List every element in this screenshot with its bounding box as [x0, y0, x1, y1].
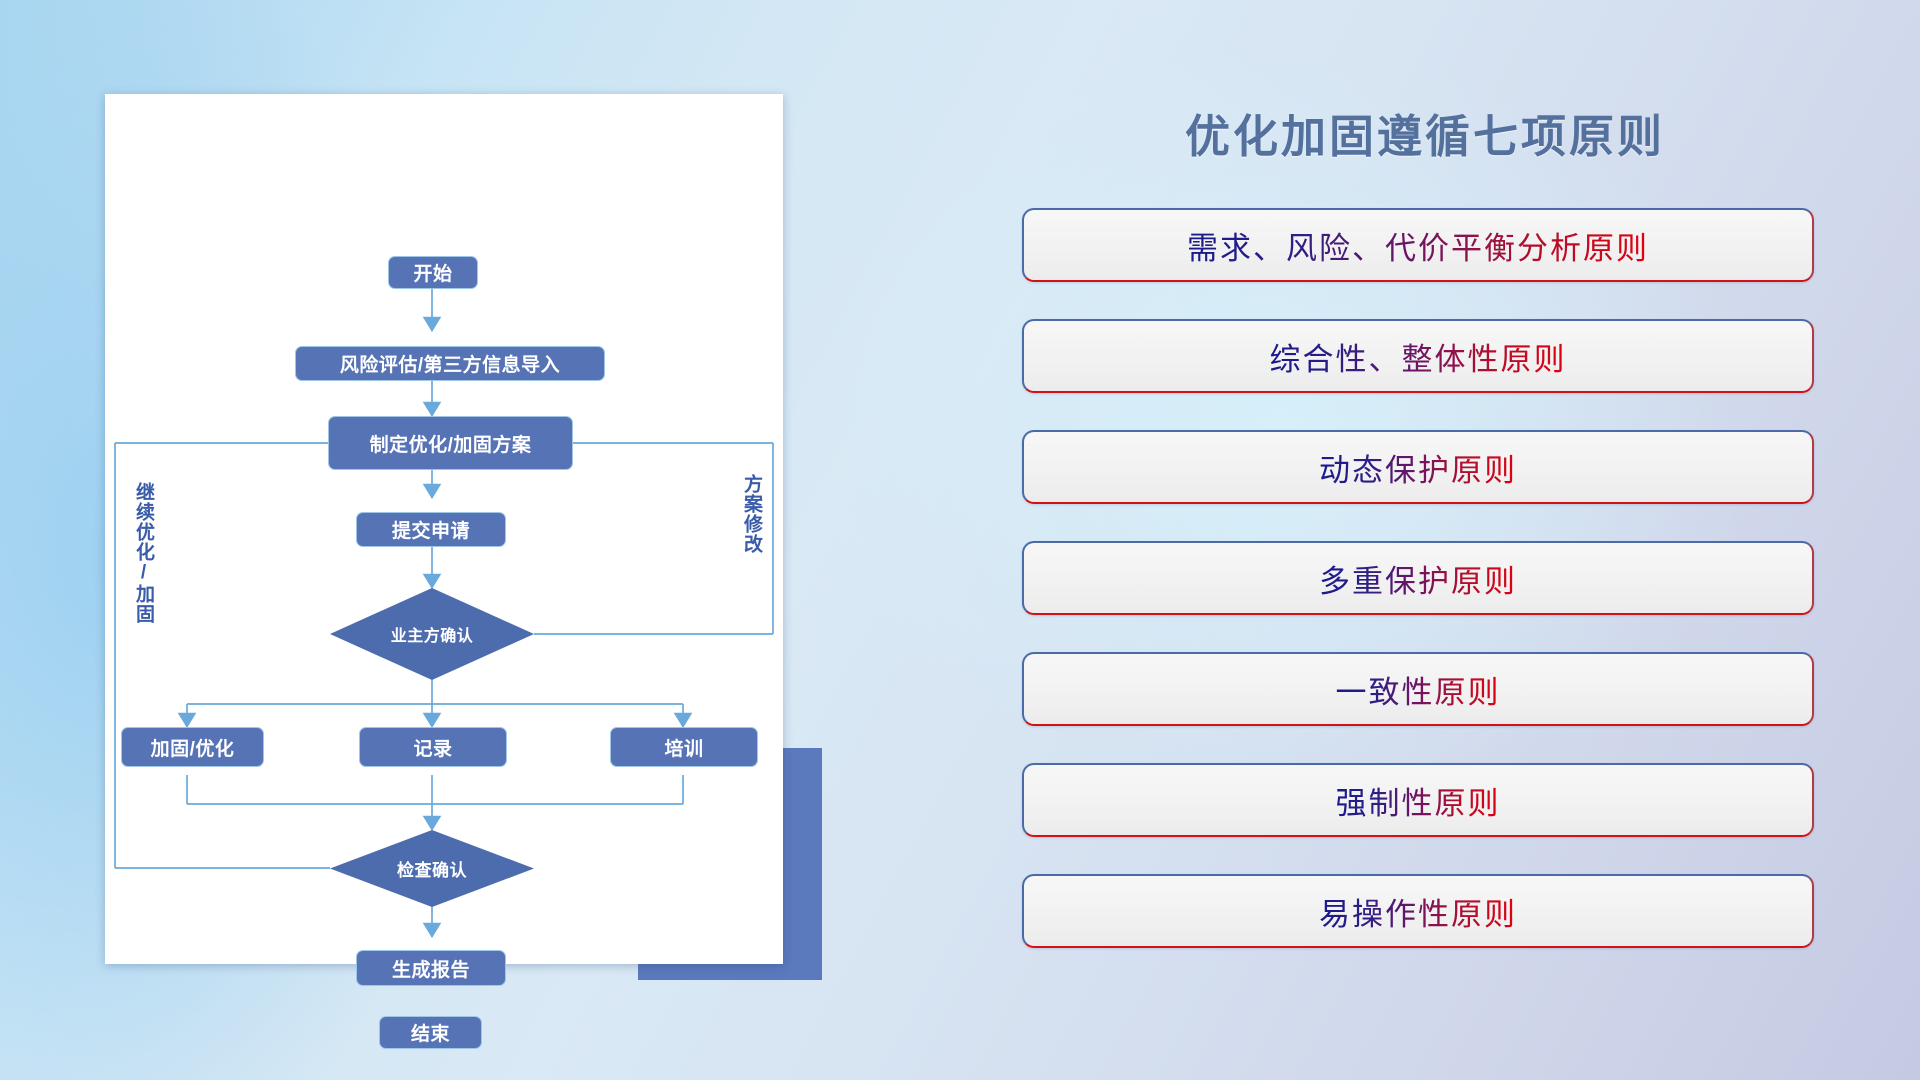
principle-label: 多重保护原则 [1319, 556, 1517, 601]
flow-node-submit-application[interactable]: 提交申请 [356, 512, 506, 547]
flow-node-label: 开始 [413, 259, 452, 286]
edge-label-continue-optimize: 继续优化/加固 [134, 482, 153, 624]
flowchart-card: 开始 风险评估/第三方信息导入 制定优化/加固方案 提交申请 业主方确认 加固/… [105, 94, 783, 964]
flow-node-label: 提交申请 [392, 516, 470, 543]
flow-node-end[interactable]: 结束 [379, 1016, 482, 1049]
principle-item-1[interactable]: 需求、风险、代价平衡分析原则 [1022, 208, 1814, 282]
flow-node-reinforce-optimize[interactable]: 加固/优化 [121, 727, 264, 767]
principles-panel: 优化加固遵循七项原则 需求、风险、代价平衡分析原则 综合性、整体性原则 动态保护… [1020, 96, 1830, 996]
flow-node-label: 记录 [413, 734, 452, 761]
flow-node-risk-assessment[interactable]: 风险评估/第三方信息导入 [295, 346, 605, 381]
flow-node-label: 加固/优化 [151, 734, 235, 761]
flow-node-label: 风险评估/第三方信息导入 [340, 350, 560, 377]
flow-node-label: 生成报告 [392, 955, 470, 982]
flowchart: 开始 风险评估/第三方信息导入 制定优化/加固方案 提交申请 业主方确认 加固/… [105, 94, 783, 964]
principle-label: 强制性原则 [1336, 778, 1501, 823]
principle-item-5[interactable]: 一致性原则 [1022, 652, 1814, 726]
flow-node-training[interactable]: 培训 [610, 727, 758, 767]
flow-node-generate-report[interactable]: 生成报告 [356, 950, 506, 986]
principle-item-7[interactable]: 易操作性原则 [1022, 874, 1814, 948]
edge-label-plan-revision: 方案修改 [742, 474, 761, 554]
flow-node-label: 制定优化/加固方案 [370, 430, 532, 457]
flow-node-plan[interactable]: 制定优化/加固方案 [328, 416, 573, 470]
panel-title: 优化加固遵循七项原则 [1020, 100, 1830, 165]
slide-canvas: 开始 风险评估/第三方信息导入 制定优化/加固方案 提交申请 业主方确认 加固/… [0, 0, 1920, 1080]
principle-label: 动态保护原则 [1319, 445, 1517, 490]
principle-item-4[interactable]: 多重保护原则 [1022, 541, 1814, 615]
principle-label: 一致性原则 [1336, 667, 1501, 712]
principle-item-3[interactable]: 动态保护原则 [1022, 430, 1814, 504]
flow-node-owner-confirm[interactable]: 业主方确认 [330, 588, 534, 680]
principle-item-6[interactable]: 强制性原则 [1022, 763, 1814, 837]
flow-node-label: 培训 [664, 734, 703, 761]
principle-label: 综合性、整体性原则 [1270, 334, 1567, 379]
flow-node-record[interactable]: 记录 [359, 727, 507, 767]
flow-node-check-confirm[interactable]: 检查确认 [330, 830, 534, 907]
principles-list: 需求、风险、代价平衡分析原则 综合性、整体性原则 动态保护原则 多重保护原则 一… [1022, 208, 1814, 948]
flow-node-label: 结束 [411, 1019, 450, 1046]
principle-label: 易操作性原则 [1319, 889, 1517, 934]
flow-node-label: 检查确认 [397, 856, 467, 881]
flow-node-label: 业主方确认 [391, 622, 474, 646]
principle-label: 需求、风险、代价平衡分析原则 [1187, 223, 1649, 268]
principle-item-2[interactable]: 综合性、整体性原则 [1022, 319, 1814, 393]
flow-node-start[interactable]: 开始 [388, 256, 478, 289]
